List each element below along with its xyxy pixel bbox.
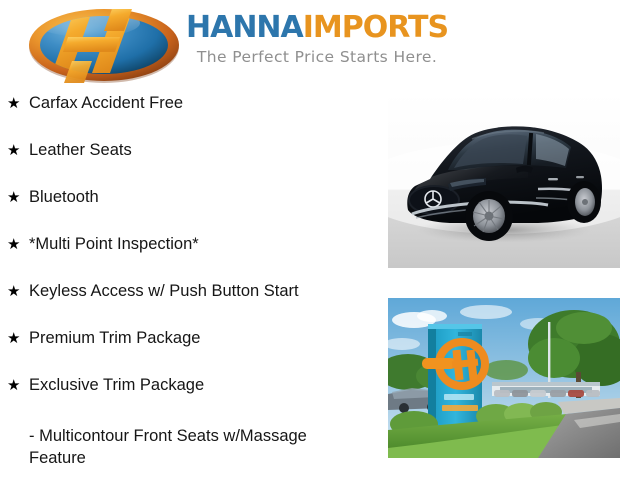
list-item: ★ Leather Seats xyxy=(0,139,380,186)
wordmark-line: HANNAIMPORTS xyxy=(186,13,448,43)
feature-label: *Multi Point Inspection* xyxy=(29,233,199,255)
star-bullet-icon: ★ xyxy=(7,327,29,349)
wordmark-imports: IMPORTS xyxy=(303,10,448,45)
dealer-logo-lockup[interactable]: HANNAIMPORTS The Perfect Price Starts He… xyxy=(28,7,448,85)
feature-label: Leather Seats xyxy=(29,139,132,161)
wordmark-hanna: HANNA xyxy=(186,10,303,45)
star-bullet-icon: ★ xyxy=(7,92,29,114)
logo-oval-svg xyxy=(28,7,180,85)
dealership-photo[interactable] xyxy=(388,298,620,458)
feature-label: Carfax Accident Free xyxy=(29,92,183,114)
list-item: ★ Bluetooth xyxy=(0,186,380,233)
list-item: ★ Keyless Access w/ Push Button Start xyxy=(0,280,380,327)
list-item: ★ Exclusive Trim Package xyxy=(0,374,380,421)
hanna-imports-oval-h-logo-icon xyxy=(28,7,180,85)
vehicle-photo[interactable] xyxy=(388,92,620,268)
feature-label: Keyless Access w/ Push Button Start xyxy=(29,280,299,302)
star-bullet-icon: ★ xyxy=(7,139,29,161)
star-bullet-icon: ★ xyxy=(7,233,29,255)
feature-label: Premium Trim Package xyxy=(29,327,200,349)
star-bullet-icon: ★ xyxy=(7,186,29,208)
dealer-wordmark: HANNAIMPORTS The Perfect Price Starts He… xyxy=(186,7,448,66)
dealer-tagline: The Perfect Price Starts Here. xyxy=(186,48,448,66)
dealer-header: HANNAIMPORTS The Perfect Price Starts He… xyxy=(0,0,640,90)
list-sub-item: - Multicontour Front Seats w/Massage Fea… xyxy=(0,421,359,469)
dealership-illustration xyxy=(388,298,620,458)
list-item: ★ *Multi Point Inspection* xyxy=(0,233,380,280)
vehicle-feature-list: ★ Carfax Accident Free ★ Leather Seats ★… xyxy=(0,92,380,469)
feature-label: Exclusive Trim Package xyxy=(29,374,204,396)
feature-label: Bluetooth xyxy=(29,186,99,208)
star-bullet-icon: ★ xyxy=(7,280,29,302)
star-bullet-icon: ★ xyxy=(7,374,29,396)
list-item: ★ Premium Trim Package xyxy=(0,327,380,374)
vehicle-illustration xyxy=(388,92,620,268)
list-item: ★ Carfax Accident Free xyxy=(0,92,380,139)
sub-feature-label: - Multicontour Front Seats w/Massage Fea… xyxy=(29,427,307,467)
